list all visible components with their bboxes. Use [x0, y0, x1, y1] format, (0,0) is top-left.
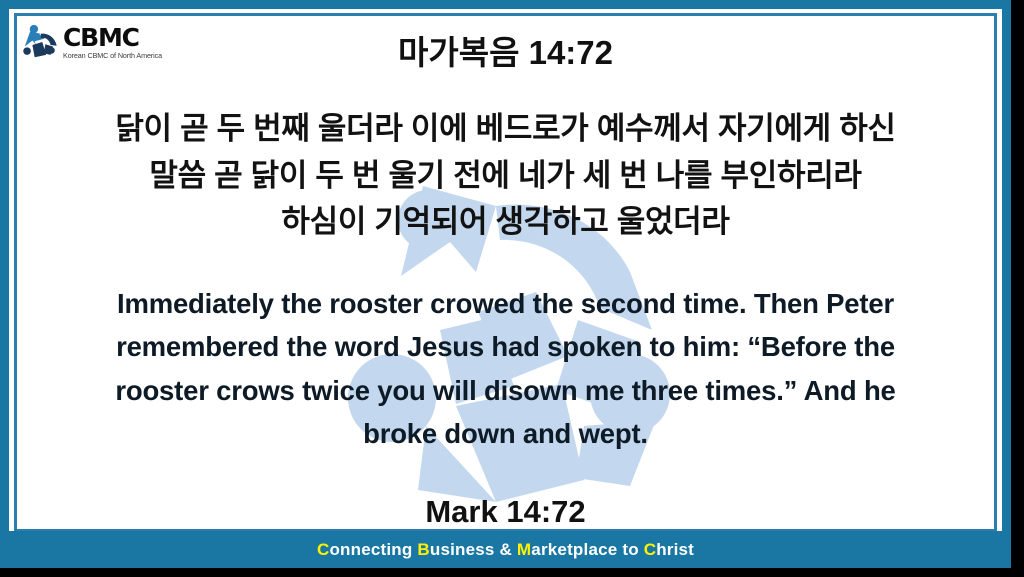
english-line: remembered the word Jesus had spoken to … — [17, 325, 994, 368]
korean-line: 하심이 기억되어 생각하고 울었더라 — [17, 199, 994, 246]
footer-tagline-segment: usiness & — [430, 540, 517, 559]
footer-tagline-segment: M — [517, 540, 531, 559]
footer-banner: Connecting Business & Marketplace to Chr… — [0, 531, 1011, 568]
footer-tagline-segment: hrist — [656, 540, 694, 559]
footer-tagline-segment: C — [644, 540, 656, 559]
footer-tagline-segment: onnecting — [329, 540, 417, 559]
korean-line: 닭이 곧 두 번째 울더라 이에 베드로가 예수께서 자기에게 하신 — [17, 106, 994, 153]
footer-tagline-segment: arketplace to — [531, 540, 643, 559]
slide-content: CBMC Korean CBMC of North America 마가복음 1… — [17, 16, 994, 529]
english-line: broke down and wept. — [17, 412, 994, 455]
english-scripture-text: Immediately the rooster crowed the secon… — [17, 282, 994, 456]
slide-title: 마가복음 14:72 — [17, 26, 994, 74]
slide-edge-right — [1011, 0, 1024, 577]
english-line: rooster crows twice you will disown me t… — [17, 369, 994, 412]
scripture-reference: Mark 14:72 — [17, 494, 994, 530]
footer-tagline-segment: B — [417, 540, 429, 559]
korean-scripture-text: 닭이 곧 두 번째 울더라 이에 베드로가 예수께서 자기에게 하신 말씀 곧 … — [17, 106, 994, 246]
korean-line: 말씀 곧 닭이 두 번 울기 전에 네가 세 번 나를 부인하리라 — [17, 153, 994, 200]
slide-edge-bottom — [0, 568, 1024, 577]
presentation-slide: CBMC Korean CBMC of North America 마가복음 1… — [0, 0, 1024, 577]
footer-tagline-segment: C — [317, 540, 329, 559]
english-line: Immediately the rooster crowed the secon… — [17, 282, 994, 325]
footer-tagline: Connecting Business & Marketplace to Chr… — [317, 540, 694, 560]
